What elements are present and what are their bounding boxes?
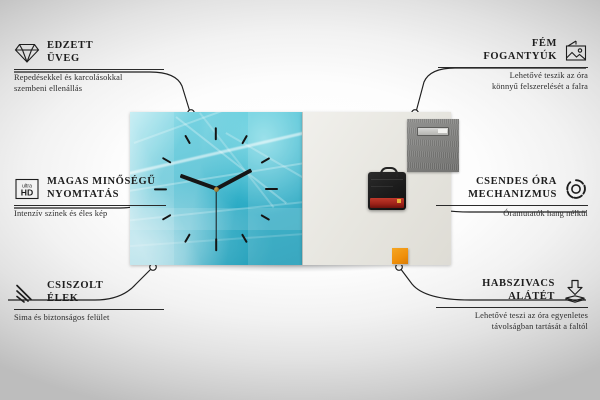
diamond-icon [14, 42, 40, 64]
callout-divider [436, 307, 588, 308]
callout-subtitle-line: Intenzív színek és éles kép [14, 209, 166, 220]
callout-tempered-glass: EDZETT ÜVEG Repedésekkel és karcolásokka… [14, 40, 164, 94]
picture-hanger-icon [564, 40, 588, 62]
callout-subtitle-line: Óramutatók hang nélkül [436, 209, 588, 220]
diagonal-lines-icon [14, 282, 40, 304]
callout-subtitle-line: távolságban tartását a faltól [436, 322, 588, 333]
clock-hand [215, 189, 216, 239]
callout-title-line: ÉLEK [47, 293, 103, 306]
hanger-slot [417, 127, 449, 136]
product-shadow [134, 265, 446, 281]
callout-polished-edges: CSISZOLT ÉLEK Sima és biztonságos felüle… [14, 280, 164, 324]
callout-title-line: FOGANTYÚK [483, 51, 557, 64]
callout-subtitle-line: Repedésekkel és karcolásokkal [14, 73, 164, 84]
callout-title-line: EDZETT [47, 40, 93, 53]
foam-pad-arrow-icon [562, 279, 588, 303]
callout-title-line: HABSZIVACS [482, 278, 555, 291]
callout-divider [436, 205, 588, 206]
mechanism-seam [371, 186, 393, 187]
callout-title-line: ALÁTÉT [482, 291, 555, 304]
callout-divider [14, 69, 164, 70]
svg-text:HD: HD [21, 187, 33, 197]
clock-center-cap [214, 187, 219, 192]
callout-subtitle-line: könnyű felszerelését a falra [438, 82, 588, 93]
callout-divider [438, 67, 588, 68]
ultra-hd-icon: ultra HD [14, 177, 40, 201]
infographic-canvas: EDZETT ÜVEG Repedésekkel és karcolásokka… [0, 0, 600, 400]
callout-divider [14, 309, 164, 310]
clock-tick [215, 238, 217, 251]
callout-title-line: MAGAS MINŐSÉGŰ [47, 176, 155, 189]
callout-foam-pad: HABSZIVACS ALÁTÉT Lehetővé teszi az óra … [436, 278, 588, 332]
callout-subtitle-line: Lehetővé teszik az óra [438, 71, 588, 82]
callout-subtitle-line: szembeni ellenállás [14, 84, 164, 95]
callout-divider [14, 205, 166, 206]
callout-title-line: MECHANIZMUS [468, 189, 557, 202]
callout-metal-hangers: FÉM FOGANTYÚK Lehetővé teszik az óra kön… [438, 38, 588, 92]
callout-high-quality-print: ultra HD MAGAS MINŐSÉGŰ NYOMTATÁS Intenz… [14, 176, 166, 220]
callout-title-line: NYOMTATÁS [47, 189, 155, 202]
clock-hand [215, 169, 252, 191]
mechanism-loop [380, 167, 398, 177]
callout-title-line: CSISZOLT [47, 280, 103, 293]
clock-mechanism [368, 172, 406, 210]
gear-icon [564, 177, 588, 201]
callout-title-line: ÜVEG [47, 53, 93, 66]
callout-title-line: CSENDES ÓRA [468, 176, 557, 189]
callout-title-line: FÉM [483, 38, 557, 51]
callout-subtitle-line: Sima és biztonságos felület [14, 313, 164, 324]
battery [370, 198, 404, 208]
callout-silent-clock-mechanism: CSENDES ÓRA MECHANIZMUS Óramutatók hang … [436, 176, 588, 220]
mechanism-seam [371, 179, 403, 180]
clock-tick [184, 135, 191, 145]
callout-subtitle-line: Lehetővé teszi az óra egyenletes [436, 311, 588, 322]
metal-hanger-plate [407, 119, 459, 172]
foam-pad [392, 248, 408, 264]
